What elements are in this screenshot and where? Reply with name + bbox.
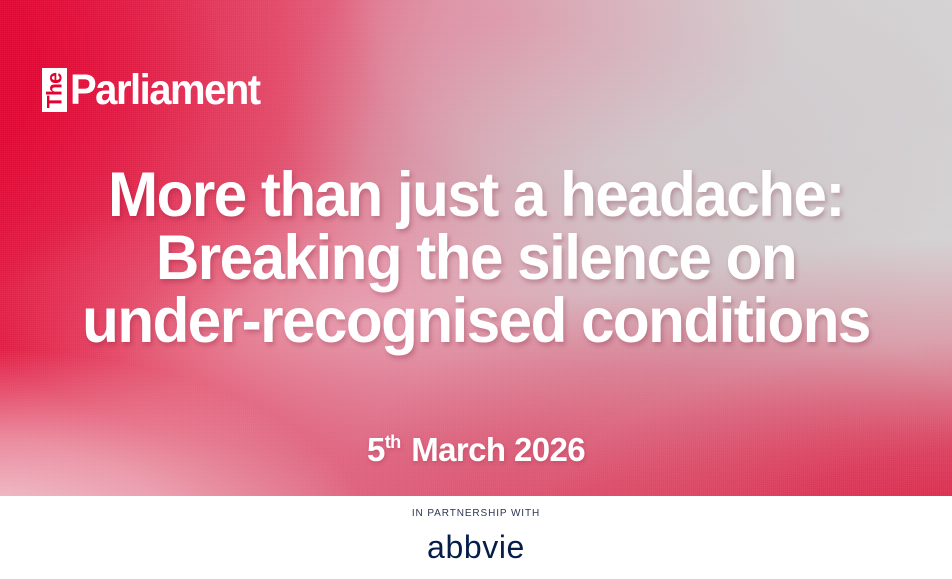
event-date-ordinal: th [385, 432, 401, 452]
page-title: More than just a headache: Breaking the … [21, 164, 930, 353]
logo-parliament-text: Parliament [70, 68, 260, 112]
event-date-month-year: March 2026 [403, 431, 585, 468]
event-date: 5th March 2026 [0, 424, 952, 468]
headline-line-3: under-recognised conditions [21, 290, 930, 353]
logo-the-text: The [44, 72, 65, 108]
logo-the-badge: The [42, 68, 67, 112]
abbvie-logo[interactable]: abbvie [427, 530, 525, 564]
partnership-footer: IN PARTNERSHIP WITH abbvie [0, 496, 952, 579]
event-banner: The Parliament More than just a headache… [0, 0, 952, 579]
parliament-logo[interactable]: The Parliament [42, 68, 274, 112]
event-date-day: 5 [367, 431, 385, 468]
partnership-label: IN PARTNERSHIP WITH [412, 508, 540, 520]
headline-line-2: Breaking the silence on [21, 227, 930, 290]
headline-line-1: More than just a headache: [21, 164, 930, 227]
